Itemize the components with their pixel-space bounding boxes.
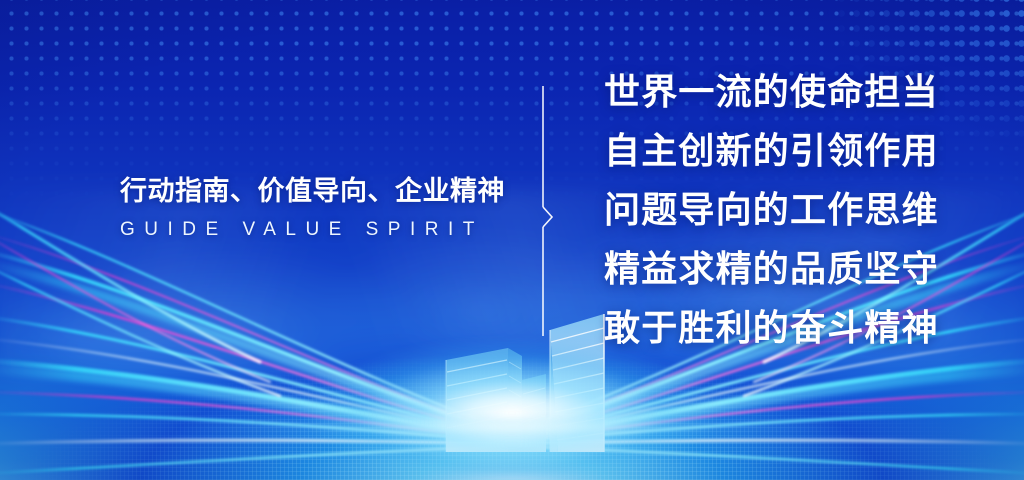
- slogan-line: 敢于胜利的奋斗精神: [604, 310, 984, 346]
- slogan-line: 问题导向的工作思维: [604, 192, 984, 228]
- guide-subtitle-en: GUIDE VALUE SPIRIT: [120, 219, 500, 241]
- horizon-beam-icon: [62, 414, 962, 440]
- slogan-line: 自主创新的引领作用: [604, 133, 984, 169]
- guide-heading-cn: 行动指南、价值导向、企业精神: [120, 176, 500, 208]
- slogan-list: 世界一流的使命担当 自主创新的引领作用 问题导向的工作思维 精益求精的品质坚守 …: [604, 74, 984, 346]
- left-text-block: 行动指南、价值导向、企业精神 GUIDE VALUE SPIRIT: [120, 176, 500, 241]
- slogan-line: 世界一流的使命担当: [604, 74, 984, 110]
- slogan-line: 精益求精的品质坚守: [604, 251, 984, 287]
- culture-banner: 行动指南、价值导向、企业精神 GUIDE VALUE SPIRIT 世界一流的使…: [0, 0, 1024, 480]
- vertical-divider: [536, 86, 556, 336]
- chevron-right-icon: [543, 207, 552, 227]
